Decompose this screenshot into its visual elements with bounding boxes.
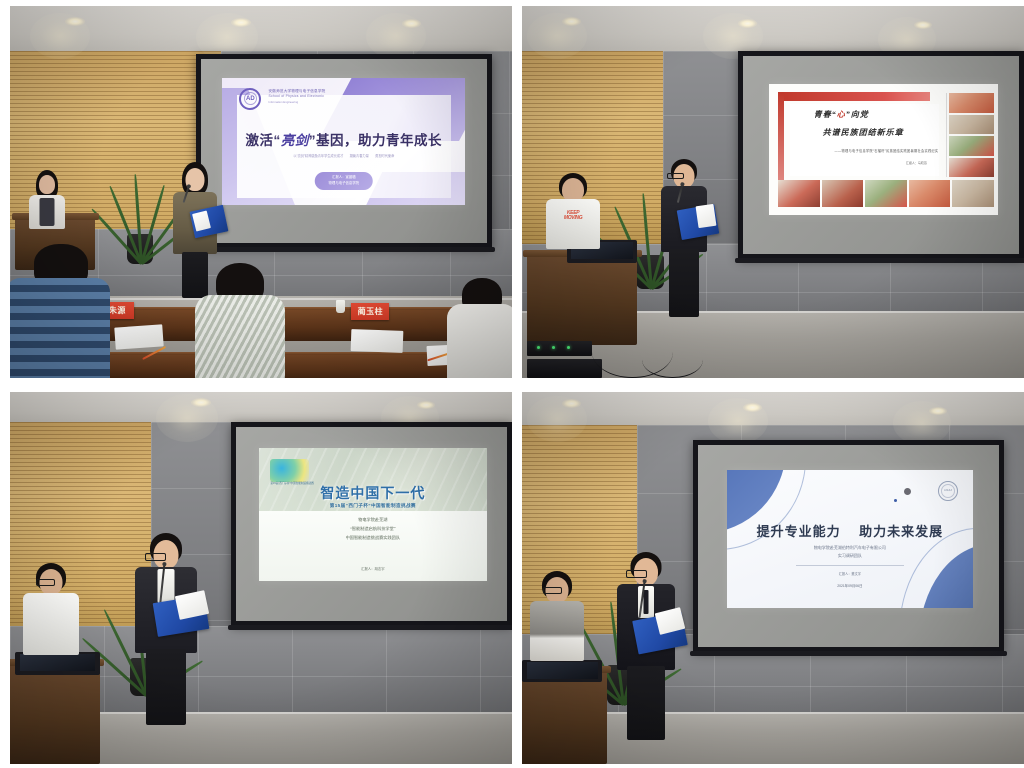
body-line-2: “智能制造启航科技学堂” <box>259 525 487 534</box>
slide-photo <box>949 115 994 135</box>
slide-photo <box>865 180 906 208</box>
podium <box>522 671 607 764</box>
ceiling <box>10 6 512 54</box>
slide-photo <box>778 180 819 208</box>
person-assistant <box>25 170 69 240</box>
glasses-icon <box>543 587 562 594</box>
university-seal-icon: ANHUI <box>938 481 958 501</box>
projection-screen: ANHUI 提升专业能力 助力未来发展 物电学院赴芜湖伯特利汽车电子有限公司 实… <box>693 440 1004 652</box>
subtitle-line-2: 实习调研团队 <box>766 552 933 559</box>
glasses-icon <box>145 553 166 561</box>
presentation-slide: AD 安徽师范大学物理与电子信息学院 School of Physics and… <box>222 78 465 206</box>
mixer-led-indicator <box>537 346 540 349</box>
slide-photo-strip <box>778 180 993 208</box>
presentation-slide: 青春“心”向党 共谱民族团结新乐章 ——物理与电子信息学院“石榴籽”民族团结实践… <box>769 84 998 215</box>
slide-photo <box>952 180 993 208</box>
slide-subtitle: 物电学院赴芜湖伯特利汽车电子有限公司 实习调研团队 <box>766 544 933 558</box>
slide-accent-bar-left <box>778 92 784 186</box>
screen-roller-bar <box>690 651 1007 656</box>
ceiling-downlight-icon <box>231 18 251 27</box>
mixer-led-indicator <box>567 346 570 349</box>
title-right: 助力未来发展 <box>859 524 943 539</box>
title-quote-close: ” <box>309 133 316 148</box>
person-audience-right <box>442 278 512 378</box>
laptop <box>522 660 602 682</box>
mixer-led-indicator <box>552 346 555 349</box>
head <box>39 175 55 194</box>
slide-subtitle: 以“亮剑”精神激励青年学生成长成才 凝聚青春力量 勇担时代使命 <box>256 154 431 159</box>
slide-photo <box>909 180 950 208</box>
slide-footer: 汇报人：胡志宇 <box>259 566 487 571</box>
title-part-b: 向党 <box>851 110 869 119</box>
slide-title: 激活“亮剑”基因，助力青年成长 <box>222 129 465 149</box>
ceiling-downlight-icon <box>417 401 435 409</box>
person-audience-left <box>10 244 120 378</box>
glasses-icon <box>667 173 684 179</box>
badge-line-2: 物理与电子信息学院 <box>329 181 360 187</box>
torso-tshirt <box>546 199 600 249</box>
slide-presenter-badge: 汇报人：宣晨璐 物理与电子信息学院 <box>315 172 374 190</box>
glasses-icon <box>626 570 647 578</box>
ceiling-downlight-icon <box>929 407 947 415</box>
podium <box>10 664 100 764</box>
slide-photo <box>949 158 994 178</box>
torso-white-shirt <box>23 593 79 655</box>
title-highlight: 心 <box>837 110 846 119</box>
person-podium-operator <box>20 563 82 655</box>
collage-panel-top-left: AD 安徽师范大学物理与电子信息学院 School of Physics and… <box>10 6 512 378</box>
slide-accent-bar-top <box>778 92 929 101</box>
ceiling-downlight-icon <box>402 19 421 28</box>
person-presenter <box>125 533 207 725</box>
title-quote-open: “ <box>274 133 281 148</box>
slide-content-panel: 青春“心”向党 共谱民族团结新乐章 ——物理与电子信息学院“石榴籽”民族团结实践… <box>790 104 939 176</box>
collage-panel-bottom-right: ANHUI 提升专业能力 助力未来发展 物电学院赴芜湖伯特利汽车电子有限公司 实… <box>522 392 1024 764</box>
ceiling-downlight-icon <box>738 19 757 28</box>
body-line-3: 中国智能制造挑战赛实践团队 <box>259 534 487 543</box>
slide-photo <box>949 93 994 113</box>
title-left: 提升专业能力 <box>757 524 841 539</box>
legs <box>627 666 665 740</box>
slide-divider <box>796 565 904 566</box>
person-podium-operator <box>527 571 587 661</box>
collage-panel-top-right: 青春“心”向党 共谱民族团结新乐章 ——物理与电子信息学院“石榴籽”民族团结实践… <box>522 6 1024 378</box>
projection-screen: 青春“心”向党 共谱民族团结新乐章 ——物理与电子信息学院“石榴籽”民族团结实践… <box>738 51 1024 259</box>
university-emblem-icon: AD <box>239 88 261 110</box>
screen-roller-bar <box>735 258 1024 263</box>
competition-logo-icon <box>270 459 309 482</box>
score-sheet <box>351 329 404 353</box>
screen-roller-bar <box>193 247 495 252</box>
org-name-sub: Information Engineering <box>269 100 395 104</box>
legs <box>669 249 699 317</box>
slide-photo <box>822 180 863 208</box>
title-highlight: 亮剑 <box>281 133 309 148</box>
equipment-rack <box>527 359 602 378</box>
paper-sheet <box>695 203 716 227</box>
slide-lower-panel: 物电学院赴芜湖 “智能制造启航科技学堂” 中国智能制造挑战赛实践团队 汇报人：胡… <box>259 511 487 581</box>
apron-strap <box>40 198 55 226</box>
photo-collage: AD 安徽师范大学物理与电子信息学院 School of Physics and… <box>0 0 1024 768</box>
slide-organization: 安徽师范大学物理与电子信息学院 School of Physics and El… <box>269 89 395 104</box>
slide-photo <box>949 136 994 156</box>
presentation-slide: 第15届“西门子杯”中国智能制造挑战赛 智造中国下一代 第15届“西门子杯”中国… <box>259 448 487 581</box>
slide-title: 智造中国下一代 <box>259 483 487 503</box>
slide-title: 提升专业能力 助力未来发展 <box>727 521 973 540</box>
necktie <box>644 590 649 614</box>
projection-screen: 第15届“西门子杯”中国智能制造挑战赛 智造中国下一代 第15届“西门子杯”中国… <box>231 422 512 627</box>
tshirt-graphic-text: KEEP MOVING <box>558 211 589 221</box>
slide-subtitle: ——物理与电子信息学院“石榴籽”民族团结实践团暑期社会实践纪实 <box>835 148 939 153</box>
slide-presenter: 汇报人：樊文宇 <box>727 571 973 576</box>
paper-cup <box>336 300 345 313</box>
torso-striped-shirt <box>10 278 110 378</box>
collage-panel-bottom-left: 第15届“西门子杯”中国智能制造挑战赛 智造中国下一代 第15届“西门子杯”中国… <box>10 392 512 764</box>
ceiling <box>522 392 1024 429</box>
presentation-slide: ANHUI 提升专业能力 助力未来发展 物电学院赴芜湖伯特利汽车电子有限公司 实… <box>727 470 973 608</box>
person-presenter <box>607 552 685 740</box>
slide-decorative-dot-small <box>894 499 897 502</box>
subtitle-line-1: 物电学院赴芜湖伯特利汽车电子有限公司 <box>766 544 933 551</box>
laptop <box>15 652 100 674</box>
slide-title-line-1: 青春“心”向党 <box>814 109 869 120</box>
title-suffix: 基因，助力青年成长 <box>316 133 442 148</box>
ceiling-downlight-icon <box>191 398 211 407</box>
slide-body-text: 物电学院赴芜湖 “智能制造启航科技学堂” 中国智能制造挑战赛实践团队 <box>259 516 487 542</box>
torso-patterned-top <box>195 295 285 378</box>
body-line-1: 物电学院赴芜湖 <box>259 516 487 525</box>
torso-grey-tshirt <box>530 601 584 661</box>
badge-line-1: 汇报人：宣晨璐 <box>329 175 360 181</box>
screen-roller-bar <box>228 625 512 630</box>
title-prefix: 激活 <box>246 133 274 148</box>
legs <box>146 649 186 725</box>
cable <box>642 341 702 378</box>
slide-photo-column <box>946 93 994 177</box>
person-audience-center <box>191 263 289 378</box>
title-part-a: 青春 <box>814 110 832 119</box>
projection-screen: AD 安徽师范大学物理与电子信息学院 School of Physics and… <box>196 54 492 247</box>
ceiling <box>522 6 1024 54</box>
score-sheet <box>115 324 164 349</box>
slide-title-line-2: 共谱民族团结新乐章 <box>823 127 904 138</box>
torso <box>447 304 512 378</box>
namecard-right: 蔺玉柱 <box>351 303 389 320</box>
person-laptop-operator: KEEP MOVING <box>542 173 604 249</box>
slide-subtitle: 第15届“西门子杯”中国智能制造挑战赛 <box>259 503 487 509</box>
person-presenter <box>653 159 715 317</box>
ceiling <box>10 392 512 425</box>
slide-byline: 汇报人：马晓燕 <box>906 161 927 165</box>
ceiling-downlight-icon <box>914 21 932 29</box>
slide-decorative-dot-large <box>904 488 911 495</box>
slide-date: 2021年09月06日 <box>727 583 973 588</box>
glasses-icon <box>36 579 55 586</box>
